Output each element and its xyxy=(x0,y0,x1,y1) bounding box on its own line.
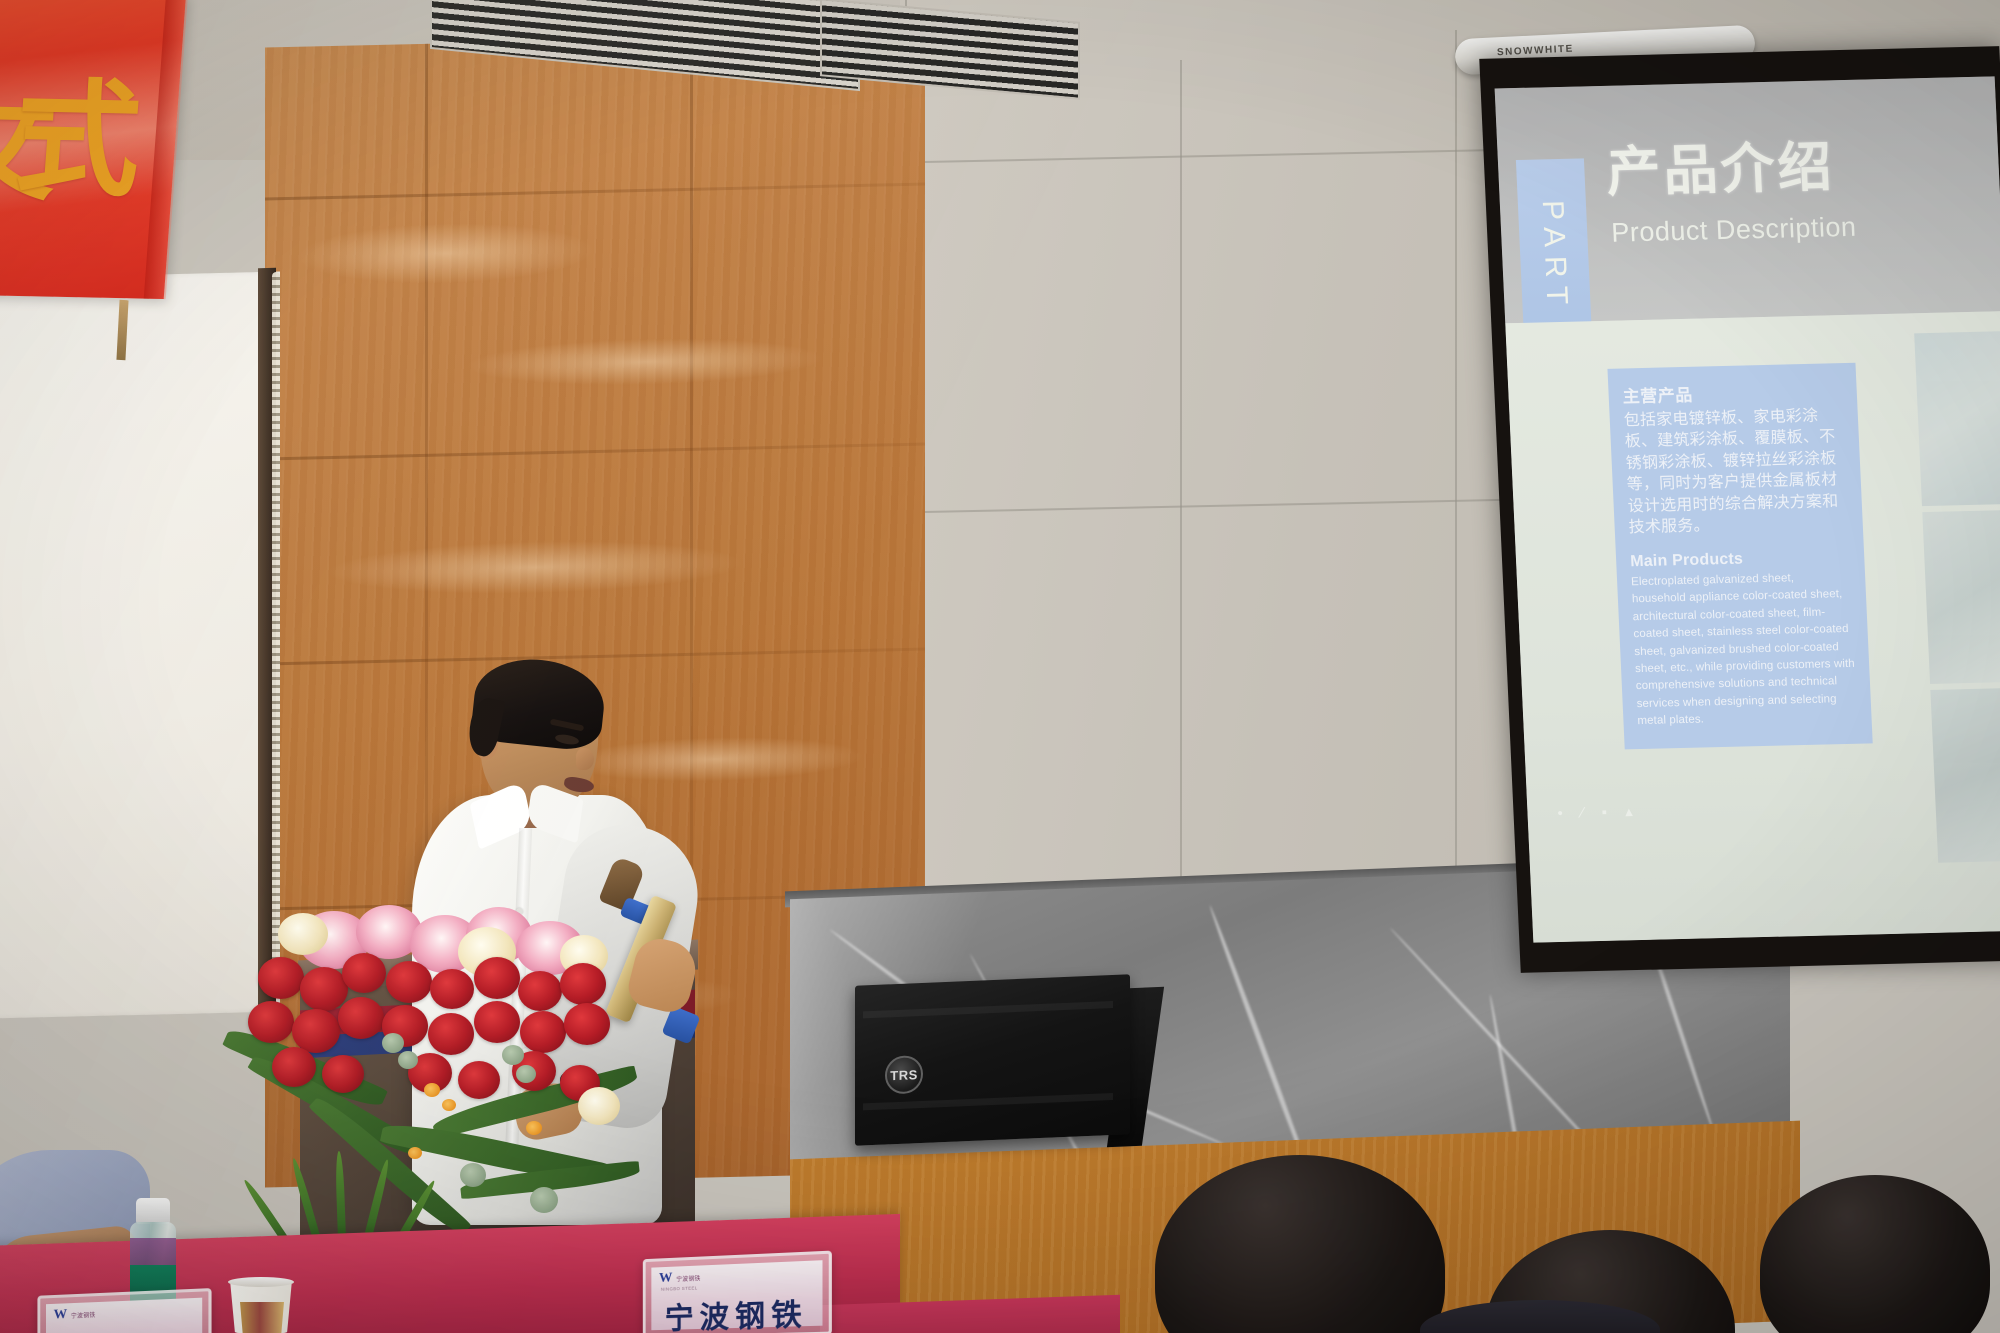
presenter-nose xyxy=(576,748,594,770)
product-photo xyxy=(1914,331,2000,506)
loudspeaker: TRS xyxy=(855,974,1130,1146)
red-ceremony-banner: 攵 式 xyxy=(0,0,186,299)
company-logo-mark: W xyxy=(54,1308,67,1322)
photo-scene: TRS SNOWWHITE PART 4 产品介绍 Product Descri… xyxy=(0,0,2000,1333)
slide-text-card: 主营产品 包括家电镀锌板、家电彩涂板、建筑彩涂板、覆膜板、不锈钢彩涂板、镀锌拉丝… xyxy=(1607,363,1872,750)
product-photo xyxy=(1930,688,2000,863)
banner-char-ceremony: 式 xyxy=(10,37,148,221)
name-plate-card-secondary: W 宁波钢铁 xyxy=(46,1298,202,1333)
company-logo-chinese: 宁波钢铁 xyxy=(676,1273,700,1283)
wall-seam xyxy=(1455,30,1457,890)
part-label: PART xyxy=(1535,200,1574,314)
slide-body: 主营产品 包括家电镀锌板、家电彩涂板、建筑彩涂板、覆膜板、不锈钢彩涂板、镀锌拉丝… xyxy=(1505,311,2000,943)
trs-brand-logo: TRS xyxy=(885,1055,923,1095)
name-plate-holder-secondary: W 宁波钢铁 xyxy=(37,1288,211,1333)
paper-cup-rim xyxy=(228,1277,294,1287)
name-plate-logo-secondary: W 宁波钢铁 xyxy=(54,1307,96,1322)
slide-body-cn: 包括家电镀锌板、家电彩涂板、建筑彩涂板、覆膜板、不锈钢彩涂板、镀锌拉丝彩涂板等，… xyxy=(1623,405,1849,539)
slide-heading-cn: 主营产品 xyxy=(1622,377,1843,407)
slide-heading-en: Main Products xyxy=(1630,548,1851,571)
slide-title-english: Product Description xyxy=(1611,212,1857,249)
slide-watermark: • ∕ ▪ ▴ xyxy=(1557,802,1640,822)
name-plate-logo: W 宁波钢铁 xyxy=(659,1270,701,1285)
paper-cup-graphic xyxy=(240,1302,284,1333)
bottle-label-upper xyxy=(130,1238,176,1268)
projection-screen-surface: PART 4 产品介绍 Product Description 主营产品 包括家… xyxy=(1495,76,2000,942)
water-bottle-cap[interactable] xyxy=(136,1198,170,1224)
slide-body-en: Electroplated galvanized sheet, househol… xyxy=(1631,569,1858,731)
company-logo-subtext: NINGBO STEEL xyxy=(661,1285,698,1291)
presentation-slide: PART 4 产品介绍 Product Description 主营产品 包括家… xyxy=(1495,76,2000,942)
product-photo xyxy=(1922,510,2000,685)
name-plate-card: W 宁波钢铁 NINGBO STEEL 宁波钢铁 xyxy=(651,1260,822,1330)
slide-product-photos xyxy=(1914,331,2000,863)
wall-seam xyxy=(1180,60,1182,900)
company-logo-mark: W xyxy=(659,1272,672,1286)
company-logo-chinese: 宁波钢铁 xyxy=(71,1310,96,1320)
name-plate-text: 宁波钢铁 xyxy=(651,1289,822,1333)
name-plate-holder: W 宁波钢铁 NINGBO STEEL 宁波钢铁 xyxy=(643,1251,832,1333)
bead-pull-cord[interactable] xyxy=(272,272,280,972)
slide-title-chinese: 产品介绍 xyxy=(1605,140,1835,200)
